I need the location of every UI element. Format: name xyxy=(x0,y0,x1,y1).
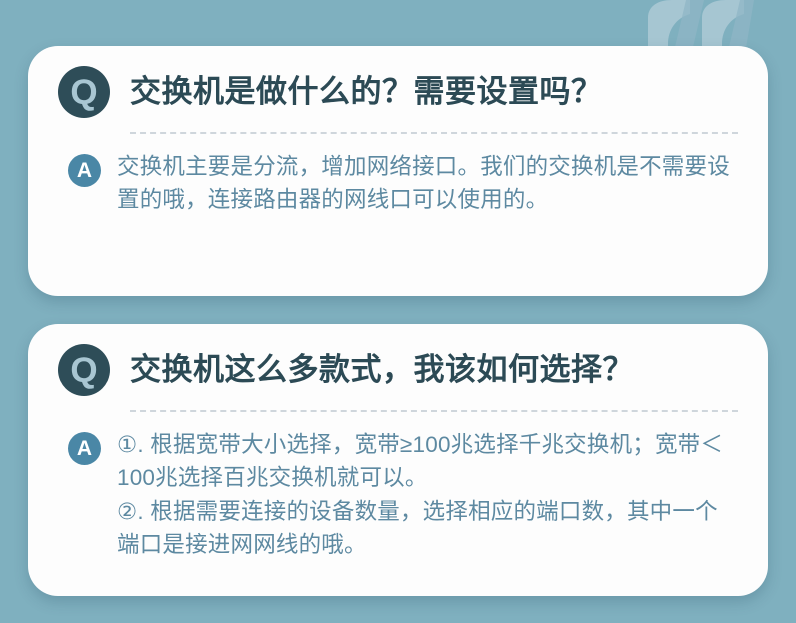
question-text: 交换机是做什么的？需要设置吗？ xyxy=(130,74,603,110)
answer-text: ①. 根据宽带大小选择，宽带≥100兆选择千兆交换机；宽带＜100兆选择百兆交换… xyxy=(117,428,738,561)
answer-badge: A xyxy=(68,154,101,187)
divider xyxy=(130,410,738,412)
answer-line: ②. 根据需要连接的设备数量，选择相应的端口数，其中一个端口是接进网网线的哦。 xyxy=(117,495,738,562)
question-badge: Q xyxy=(58,344,110,396)
answer-line: ①. 根据宽带大小选择，宽带≥100兆选择千兆交换机；宽带＜100兆选择百兆交换… xyxy=(117,428,738,495)
question-row: Q 交换机这么多款式，我该如何选择？ xyxy=(54,344,738,396)
answer-row: A ①. 根据宽带大小选择，宽带≥100兆选择千兆交换机；宽带＜100兆选择百兆… xyxy=(54,428,738,561)
question-text: 交换机这么多款式，我该如何选择？ xyxy=(130,352,634,388)
answer-text: 交换机主要是分流，增加网络接口。我们的交换机是不需要设置的哦，连接路由器的网线口… xyxy=(117,150,738,217)
faq-page: Q 交换机是做什么的？需要设置吗？ A 交换机主要是分流，增加网络接口。我们的交… xyxy=(0,0,796,623)
faq-card: Q 交换机这么多款式，我该如何选择？ A ①. 根据宽带大小选择，宽带≥100兆… xyxy=(28,324,768,596)
question-badge: Q xyxy=(58,66,110,118)
question-row: Q 交换机是做什么的？需要设置吗？ xyxy=(54,66,738,118)
answer-badge: A xyxy=(68,432,101,465)
divider xyxy=(130,132,738,134)
answer-row: A 交换机主要是分流，增加网络接口。我们的交换机是不需要设置的哦，连接路由器的网… xyxy=(54,150,738,217)
answer-line: 交换机主要是分流，增加网络接口。我们的交换机是不需要设置的哦，连接路由器的网线口… xyxy=(117,150,738,217)
faq-card: Q 交换机是做什么的？需要设置吗？ A 交换机主要是分流，增加网络接口。我们的交… xyxy=(28,46,768,296)
